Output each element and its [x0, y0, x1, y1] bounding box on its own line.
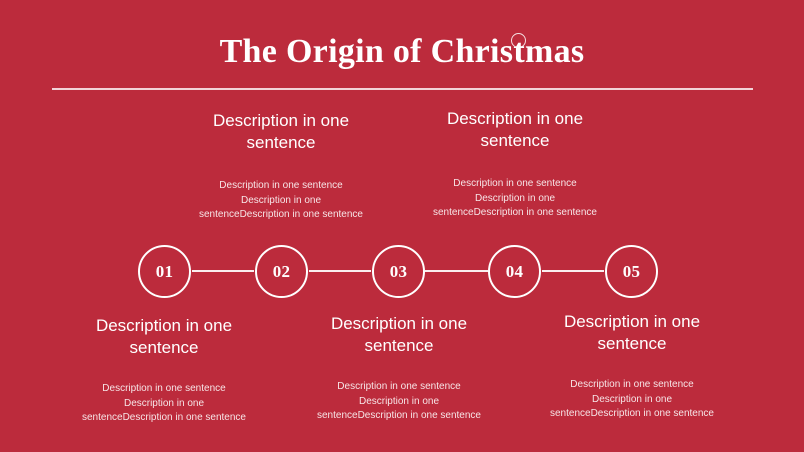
- timeline-text-block-04: Description in one sentence Description …: [431, 108, 599, 221]
- timeline-node-02[interactable]: 02: [255, 245, 308, 298]
- block-body: Description in one sentence Description …: [315, 380, 483, 424]
- timeline-text-block-02: Description in one sentence Description …: [197, 110, 365, 223]
- timeline: 01 02 03 04 05 Description in one senten…: [0, 0, 804, 452]
- timeline-node-03[interactable]: 03: [372, 245, 425, 298]
- block-heading: Description in one sentence: [80, 315, 248, 359]
- timeline-node-04[interactable]: 04: [488, 245, 541, 298]
- timeline-node-label: 03: [390, 263, 407, 280]
- block-body: Description in one sentence Description …: [80, 382, 248, 426]
- timeline-text-block-05: Description in one sentence Description …: [548, 311, 716, 422]
- timeline-node-05[interactable]: 05: [605, 245, 658, 298]
- timeline-text-block-03: Description in one sentence Description …: [315, 313, 483, 424]
- timeline-node-01[interactable]: 01: [138, 245, 191, 298]
- block-body: Description in one sentence Description …: [548, 378, 716, 422]
- timeline-connector: [309, 270, 371, 272]
- block-heading: Description in one sentence: [315, 313, 483, 357]
- timeline-connector: [425, 270, 488, 272]
- timeline-node-label: 04: [506, 263, 523, 280]
- timeline-node-label: 01: [156, 263, 173, 280]
- timeline-node-label: 05: [623, 263, 640, 280]
- timeline-connector: [542, 270, 604, 272]
- block-body: Description in one sentence Description …: [197, 179, 365, 223]
- block-heading: Description in one sentence: [431, 108, 599, 152]
- presentation-slide: The Origin of Christmas 01 02 03 04 05 D…: [0, 0, 804, 452]
- timeline-text-block-01: Description in one sentence Description …: [80, 315, 248, 426]
- timeline-node-label: 02: [273, 263, 290, 280]
- block-heading: Description in one sentence: [548, 311, 716, 355]
- block-body: Description in one sentence Description …: [431, 177, 599, 221]
- block-heading: Description in one sentence: [197, 110, 365, 154]
- timeline-connector: [192, 270, 254, 272]
